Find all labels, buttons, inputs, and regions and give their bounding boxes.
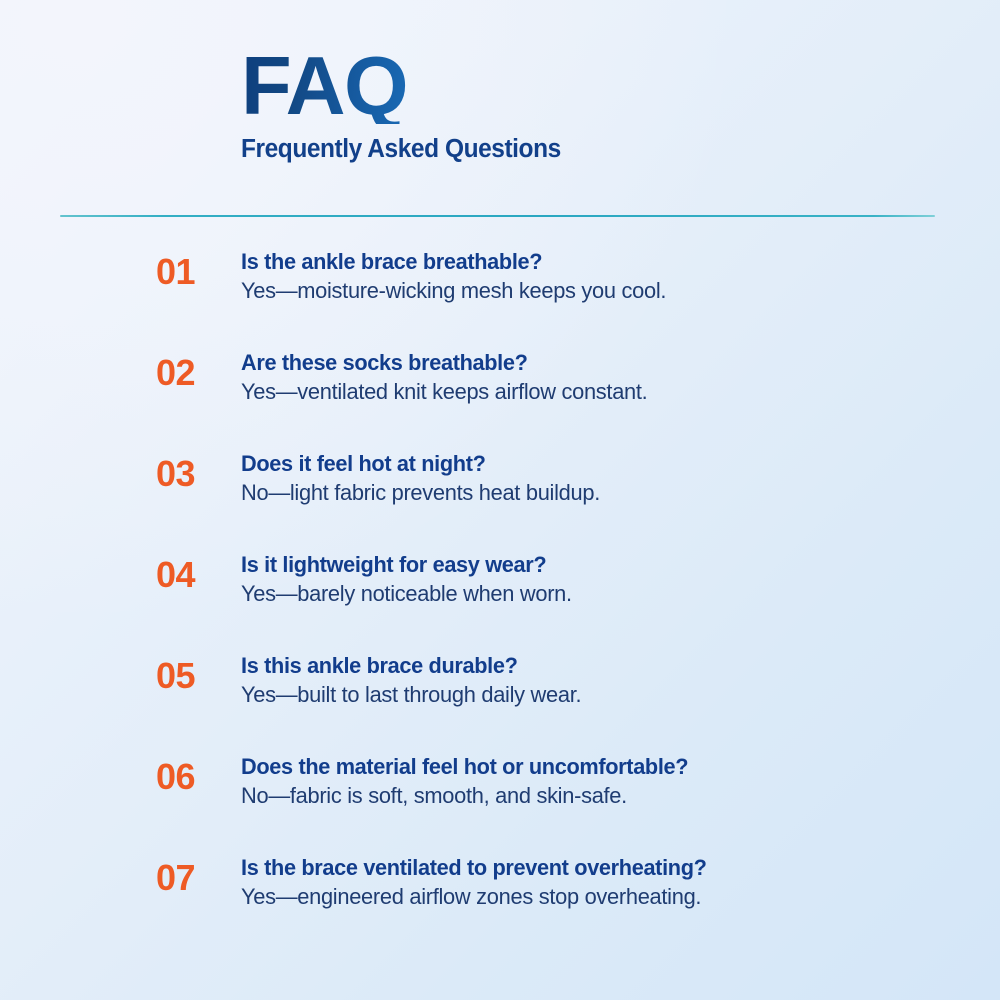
header-divider (60, 215, 935, 217)
faq-item-number: 07 (156, 860, 230, 896)
faq-answer: Yes—ventilated knit keeps airflow consta… (241, 378, 938, 407)
faq-question: Does it feel hot at night? (241, 450, 935, 477)
faq-item[interactable]: 03Does it feel hot at night?No—light fab… (0, 450, 1000, 551)
faq-item-text: Is it lightweight for easy wear?Yes—bare… (241, 551, 960, 609)
faq-answer: Yes—moisture-wicking mesh keeps you cool… (241, 277, 938, 306)
faq-item[interactable]: 07Is the brace ventilated to prevent ove… (0, 854, 1000, 955)
faq-item[interactable]: 01Is the ankle brace breathable?Yes—mois… (0, 248, 1000, 349)
faq-item-number: 05 (156, 658, 230, 694)
faq-item-number: 02 (156, 355, 230, 391)
page-subtitle: Frequently Asked Questions (241, 135, 561, 164)
faq-item-text: Is the ankle brace breathable?Yes—moistu… (241, 248, 960, 306)
faq-answer: No—fabric is soft, smooth, and skin-safe… (241, 782, 938, 811)
faq-answer: Yes—engineered airflow zones stop overhe… (241, 883, 938, 912)
faq-question: Does the material feel hot or uncomforta… (241, 753, 935, 780)
faq-header: FAQ Frequently Asked Questions (241, 48, 574, 164)
faq-item-number: 03 (156, 456, 230, 492)
faq-question: Is this ankle brace durable? (241, 652, 935, 679)
page-title: FAQ (241, 48, 407, 124)
faq-item-text: Does the material feel hot or uncomforta… (241, 753, 960, 811)
faq-item-number: 04 (156, 557, 230, 593)
faq-answer: Yes—built to last through daily wear. (241, 681, 938, 710)
faq-item-text: Are these socks breathable?Yes—ventilate… (241, 349, 960, 407)
faq-item[interactable]: 04Is it lightweight for easy wear?Yes—ba… (0, 551, 1000, 652)
faq-question: Is the brace ventilated to prevent overh… (241, 854, 935, 881)
faq-item-text: Is the brace ventilated to prevent overh… (241, 854, 960, 912)
faq-item[interactable]: 05Is this ankle brace durable?Yes—built … (0, 652, 1000, 753)
faq-list: 01Is the ankle brace breathable?Yes—mois… (0, 248, 1000, 955)
faq-answer: Yes—barely noticeable when worn. (241, 580, 938, 609)
faq-question: Is the ankle brace breathable? (241, 248, 935, 275)
faq-item[interactable]: 02Are these socks breathable?Yes—ventila… (0, 349, 1000, 450)
faq-question: Is it lightweight for easy wear? (241, 551, 935, 578)
faq-item-text: Is this ankle brace durable?Yes—built to… (241, 652, 960, 710)
faq-item[interactable]: 06Does the material feel hot or uncomfor… (0, 753, 1000, 854)
faq-answer: No—light fabric prevents heat buildup. (241, 479, 938, 508)
faq-item-number: 06 (156, 759, 230, 795)
faq-item-number: 01 (156, 254, 230, 290)
faq-question: Are these socks breathable? (241, 349, 935, 376)
faq-item-text: Does it feel hot at night?No—light fabri… (241, 450, 960, 508)
